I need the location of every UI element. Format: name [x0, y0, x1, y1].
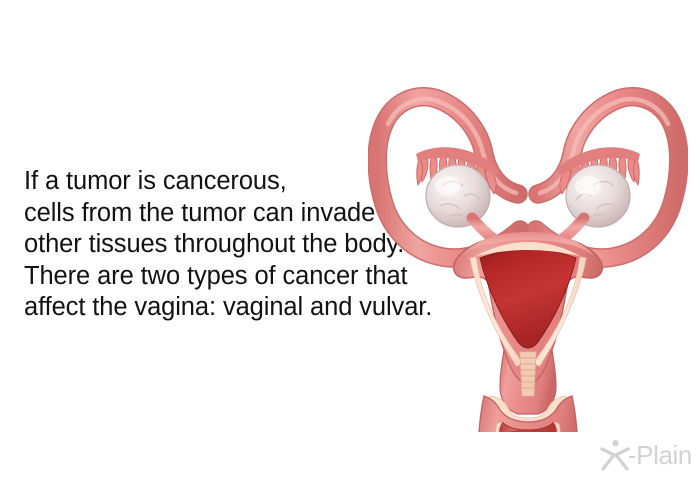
xplain-figure-icon [600, 439, 630, 471]
anatomy-illustration [368, 66, 688, 432]
right-ovary [566, 165, 630, 227]
slide-canvas: If a tumor is cancerous, cells from the … [0, 0, 700, 480]
xplain-logo: -Plain [600, 436, 692, 474]
cervical-canal [520, 352, 536, 396]
xplain-wordmark: -Plain [628, 442, 692, 468]
endometrial-cavity [480, 249, 576, 348]
anatomy-svg [368, 66, 688, 432]
left-ovary [426, 165, 490, 227]
